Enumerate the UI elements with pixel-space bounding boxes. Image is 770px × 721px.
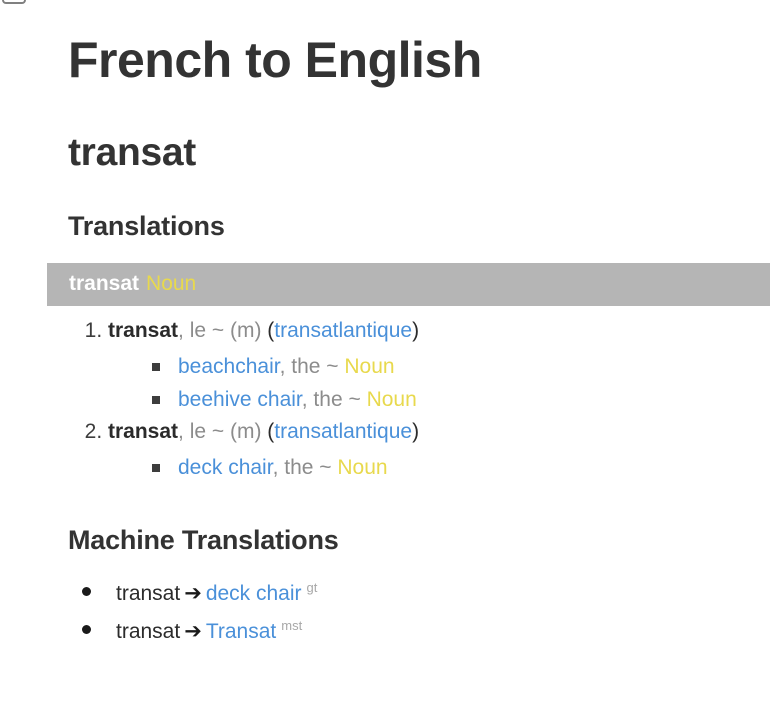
machine-section-wrapper: Machine Translations (0, 487, 770, 556)
machine-translation-item: transat➔deck chairgt (82, 574, 770, 612)
translations-section-heading: Translations (68, 173, 746, 242)
page-title: French to English (68, 0, 746, 87)
target-item: beehive chair, the ~ Noun (152, 383, 770, 416)
right-arrow-icon: ➔ (180, 619, 206, 643)
sense-headword: transat (108, 319, 178, 342)
machine-translations-list: transat➔deck chairgt transat➔Transatmst (0, 556, 770, 654)
sense-grammar: , le ~ (m) (178, 319, 267, 342)
browser-chrome-stub (2, 0, 26, 4)
target-list: beachchair, the ~ Noun beehive chair, th… (108, 343, 770, 419)
target-article: , the ~ (273, 456, 338, 479)
entry-banner: transatNoun (47, 263, 770, 306)
machine-translations-heading: Machine Translations (68, 487, 746, 556)
sense-item: transat, le ~ (m) (transatlantique) deck… (108, 419, 770, 487)
target-pos: Noun (337, 456, 387, 479)
target-article: , the ~ (280, 355, 345, 378)
machine-target-link[interactable]: deck chair (206, 582, 302, 605)
senses-list: transat, le ~ (m) (transatlantique) beac… (0, 306, 770, 487)
machine-translation-item: transat➔Transatmst (82, 612, 770, 650)
sense-headline: transat, le ~ (m) (transatlantique) (108, 419, 770, 444)
sense-synonym-link[interactable]: transatlantique (274, 420, 412, 443)
target-list: deck chair, the ~ Noun (108, 444, 770, 487)
machine-source-term: transat (116, 582, 180, 605)
entry-banner-pos: Noun (146, 272, 196, 295)
machine-engine-tag: mst (281, 618, 302, 633)
target-term-link[interactable]: deck chair (178, 456, 273, 479)
machine-source-term: transat (116, 620, 180, 643)
page-content: French to English transat Translations (0, 0, 770, 242)
target-pos: Noun (344, 355, 394, 378)
sense-close-paren: ) (412, 319, 419, 342)
target-item: deck chair, the ~ Noun (152, 451, 770, 484)
headword-title: transat (68, 87, 746, 174)
target-article: , the ~ (302, 388, 367, 411)
entry-banner-word: transat (69, 272, 139, 295)
machine-engine-tag: gt (307, 580, 318, 595)
machine-target-link[interactable]: Transat (206, 620, 276, 643)
right-arrow-icon: ➔ (180, 581, 206, 605)
sense-headline: transat, le ~ (m) (transatlantique) (108, 318, 770, 343)
sense-grammar: , le ~ (m) (178, 420, 267, 443)
target-term-link[interactable]: beachchair (178, 355, 280, 378)
target-term-link[interactable]: beehive chair (178, 388, 302, 411)
sense-headword: transat (108, 420, 178, 443)
sense-item: transat, le ~ (m) (transatlantique) beac… (108, 318, 770, 419)
sense-synonym-link[interactable]: transatlantique (274, 319, 412, 342)
sense-close-paren: ) (412, 420, 419, 443)
target-pos: Noun (367, 388, 417, 411)
dictionary-page: French to English transat Translations t… (0, 0, 770, 654)
target-item: beachchair, the ~ Noun (152, 350, 770, 383)
